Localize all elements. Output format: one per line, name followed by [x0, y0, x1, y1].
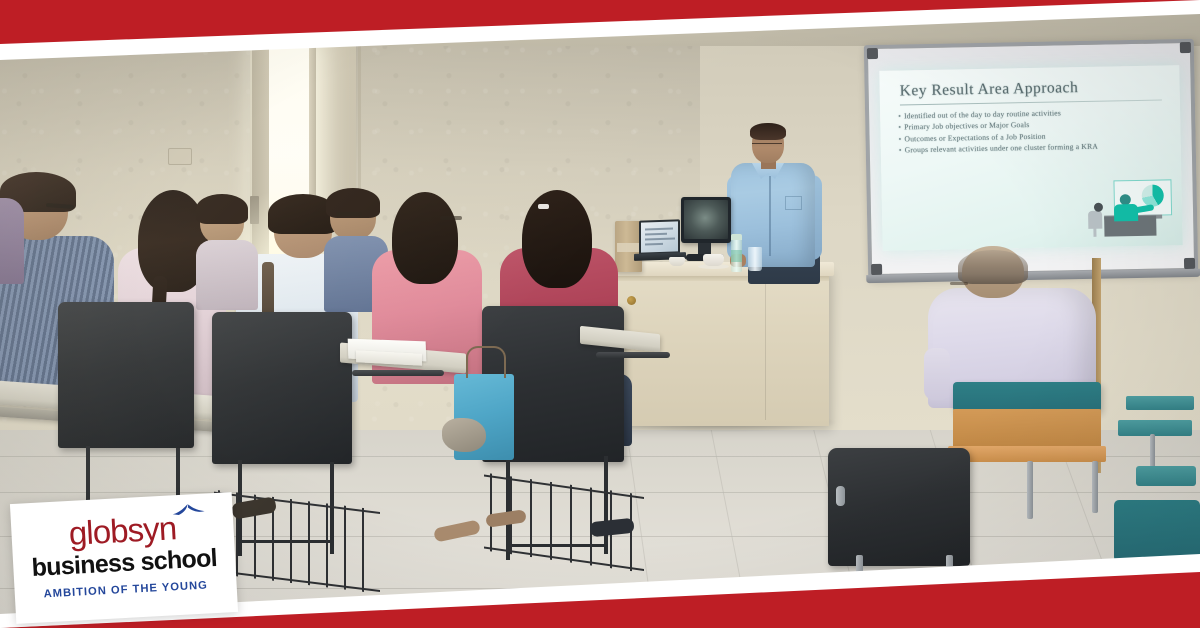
bottle-cap	[731, 234, 742, 240]
clipart-seated-head	[1094, 203, 1103, 212]
door-hinge	[250, 196, 259, 224]
podium-panel-seam	[765, 280, 766, 420]
small-cup	[669, 257, 685, 266]
shirt-placket	[769, 176, 771, 256]
logo-wordmark-school: business school	[13, 543, 236, 583]
hair-clip	[538, 204, 549, 209]
slide-bullet-list: Identified out of the day to day routine…	[898, 105, 1171, 156]
attendee-behind-left	[0, 198, 24, 284]
presentation-clipart-icon	[1081, 179, 1174, 239]
whiteboard-corner	[1180, 42, 1191, 53]
attendee-arm	[924, 348, 950, 400]
projected-slide: Key Result Area Approach Identified out …	[879, 65, 1182, 251]
chair-wood-back	[953, 409, 1101, 449]
seagull-icon	[171, 501, 206, 521]
chair-armrest-post	[836, 486, 845, 506]
laptop	[639, 219, 680, 254]
presenter-standing	[731, 163, 815, 267]
attendee-torso	[196, 240, 258, 310]
promotional-image: Key Result Area Approach Identified out …	[0, 0, 1200, 628]
chair-armrest	[596, 352, 670, 358]
drinking-glass	[748, 247, 762, 271]
shirt-pocket	[785, 196, 802, 210]
chair-leg	[1092, 461, 1098, 513]
podium-drawer-knob	[627, 296, 636, 305]
paper-bag-label	[617, 243, 639, 252]
tote-bag-handle	[466, 346, 506, 378]
desk-support	[1150, 434, 1155, 470]
whiteboard-with-projection: Key Result Area Approach Identified out …	[864, 39, 1198, 278]
attendee-long-hair	[522, 190, 592, 288]
monitor-screen	[684, 200, 728, 239]
attendee-hair	[958, 250, 1028, 284]
logo-content: globsyn business school AMBITION OF THE …	[11, 508, 237, 602]
clipart-chair	[1088, 211, 1102, 229]
black-upholstered-chair	[828, 448, 970, 566]
chair-armrest	[352, 370, 444, 376]
eyeglasses-icon	[752, 143, 782, 150]
desktop-monitor	[681, 197, 731, 243]
light-switch-plate	[168, 148, 192, 165]
logo-globsyn-text: globsyn	[68, 509, 177, 552]
globsyn-logo-card: globsyn business school AMBITION OF THE …	[10, 492, 238, 624]
black-upholstered-chair	[212, 312, 352, 464]
slide-title-divider	[900, 99, 1162, 105]
writing-tablet-desk	[1118, 420, 1192, 436]
eyeglasses-icon	[950, 282, 968, 285]
bottle-label	[731, 250, 742, 262]
paper-bag	[615, 221, 642, 272]
presenter-hair	[750, 123, 786, 140]
chair-leg	[1027, 461, 1033, 519]
whiteboard-corner	[867, 48, 878, 59]
bag-item	[442, 418, 486, 452]
attendee-hair	[196, 194, 248, 224]
clipart-chair-leg	[1093, 228, 1096, 237]
teal-wood-classroom-chair	[953, 382, 1101, 412]
black-upholstered-chair	[58, 302, 194, 448]
logo-wordmark-globsyn: globsyn	[68, 511, 177, 550]
slide-title: Key Result Area Approach	[900, 79, 1079, 100]
teal-chair-front	[1114, 500, 1200, 562]
eyeglasses-icon	[440, 216, 462, 220]
logo-tagline: AMBITION OF THE YOUNG	[15, 578, 237, 602]
chair-leg	[856, 555, 863, 615]
whiteboard-corner	[1184, 258, 1195, 269]
eyeglasses-icon	[336, 212, 362, 216]
writing-tablet-desk	[1126, 396, 1194, 410]
attendee-long-hair	[392, 192, 458, 284]
laptop-display	[641, 221, 678, 252]
whiteboard-corner	[871, 264, 882, 275]
chair-seat	[948, 446, 1106, 462]
chair-seat-teal	[1136, 466, 1196, 486]
ceiling-strip	[0, 0, 1200, 46]
chair-leg	[946, 555, 953, 611]
coffee-cup	[703, 254, 724, 266]
